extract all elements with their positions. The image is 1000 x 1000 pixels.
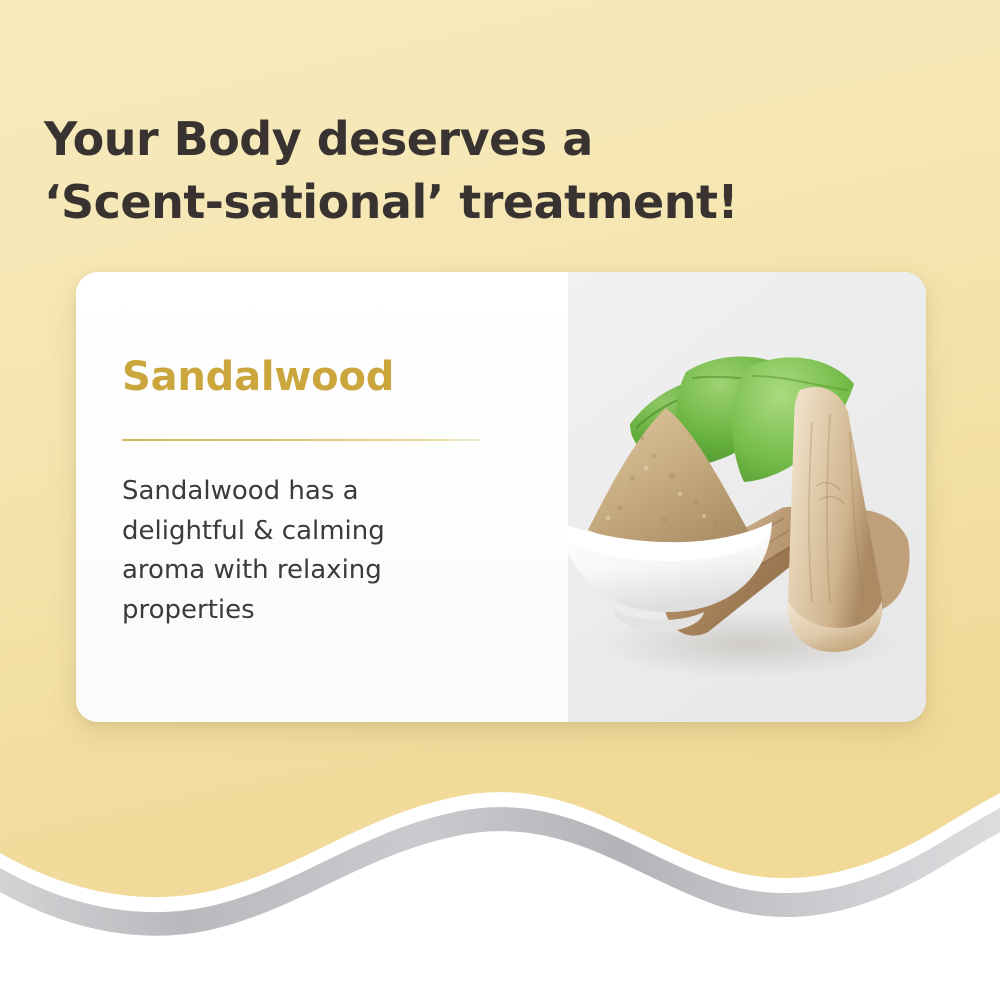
ingredient-name: Sandalwood: [122, 354, 394, 400]
headline-line-1: Your Body deserves a: [44, 108, 864, 171]
ingredient-image-panel: [568, 272, 926, 722]
headline-line-2: ‘Scent-sational’ treatment!: [44, 171, 864, 234]
title-divider: [122, 439, 480, 441]
page-title: Your Body deserves a ‘Scent-sational’ tr…: [44, 108, 864, 235]
ingredient-card[interactable]: Sandalwood Sandalwood has a delightful &…: [76, 272, 926, 722]
sandalwood-photo-illustration: [568, 272, 926, 722]
ingredient-description: Sandalwood has a delightful & calming ar…: [122, 472, 452, 630]
promo-slide: Your Body deserves a ‘Scent-sational’ tr…: [0, 0, 1000, 1000]
ingredient-card-text-panel: Sandalwood Sandalwood has a delightful &…: [76, 272, 568, 722]
